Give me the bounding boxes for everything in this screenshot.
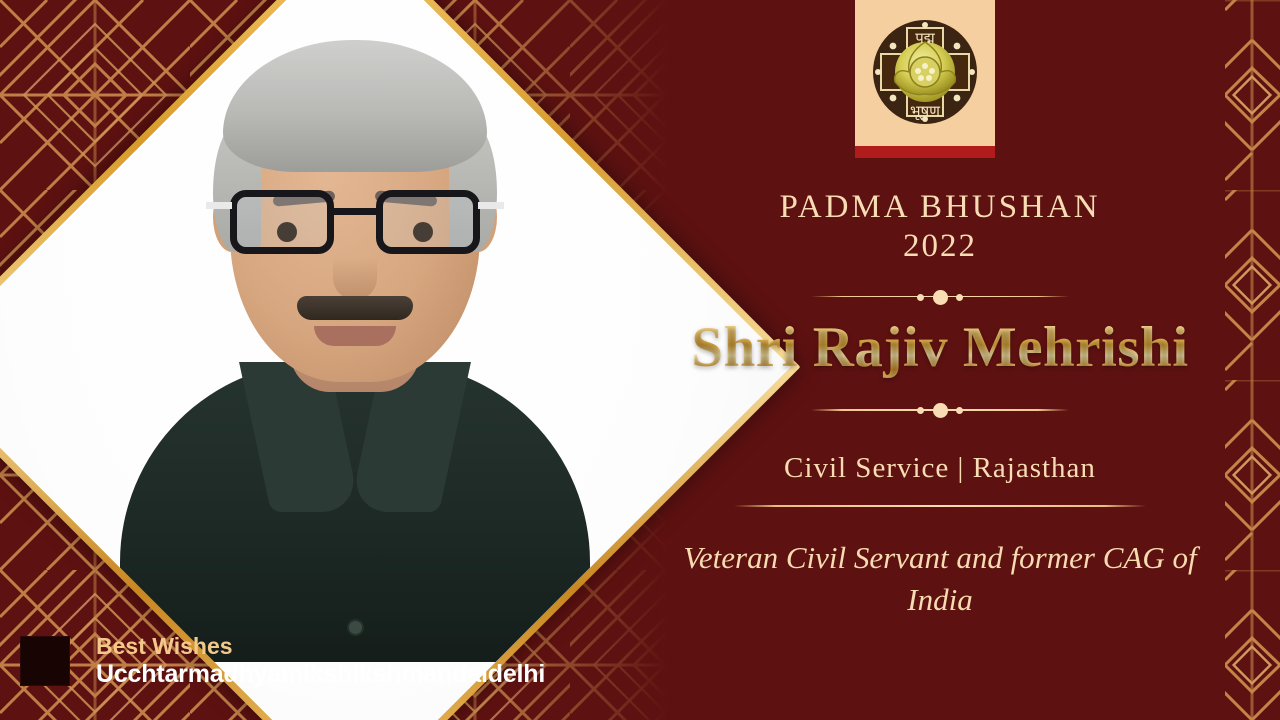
ornamental-divider-top (811, 289, 1069, 305)
award-title: PADMA BHUSHAN (640, 188, 1240, 227)
honouree-name: Shri Rajiv Mehrishi (640, 315, 1240, 381)
honouree-photo-frame (40, 52, 670, 682)
footer-credit: Best Wishes Ucchtarmadhyamikshikshmandal… (20, 634, 545, 688)
category-underline (734, 505, 1146, 507)
award-year: 2022 (640, 227, 1240, 267)
footer-text-block: Best Wishes Ucchtarmadhyamikshikshmandal… (96, 634, 545, 688)
award-details-column: PADMA BHUSHAN 2022 Shri Rajiv Mehrishi C… (640, 0, 1240, 720)
honouree-description: Veteran Civil Servant and former CAG of … (640, 537, 1240, 623)
best-wishes-label: Best Wishes (96, 634, 545, 660)
organisation-logo (20, 636, 70, 686)
honouree-category: Civil Service | Rajasthan (640, 452, 1240, 485)
organisation-name: Ucchtarmadhyamikshikshmandaldelhi (96, 660, 545, 688)
padma-bhushan-award-card: पद्म भूषण PADMA BHUSHAN 2022 Shri Rajiv … (0, 0, 1280, 720)
ornamental-divider-bottom (811, 402, 1069, 418)
